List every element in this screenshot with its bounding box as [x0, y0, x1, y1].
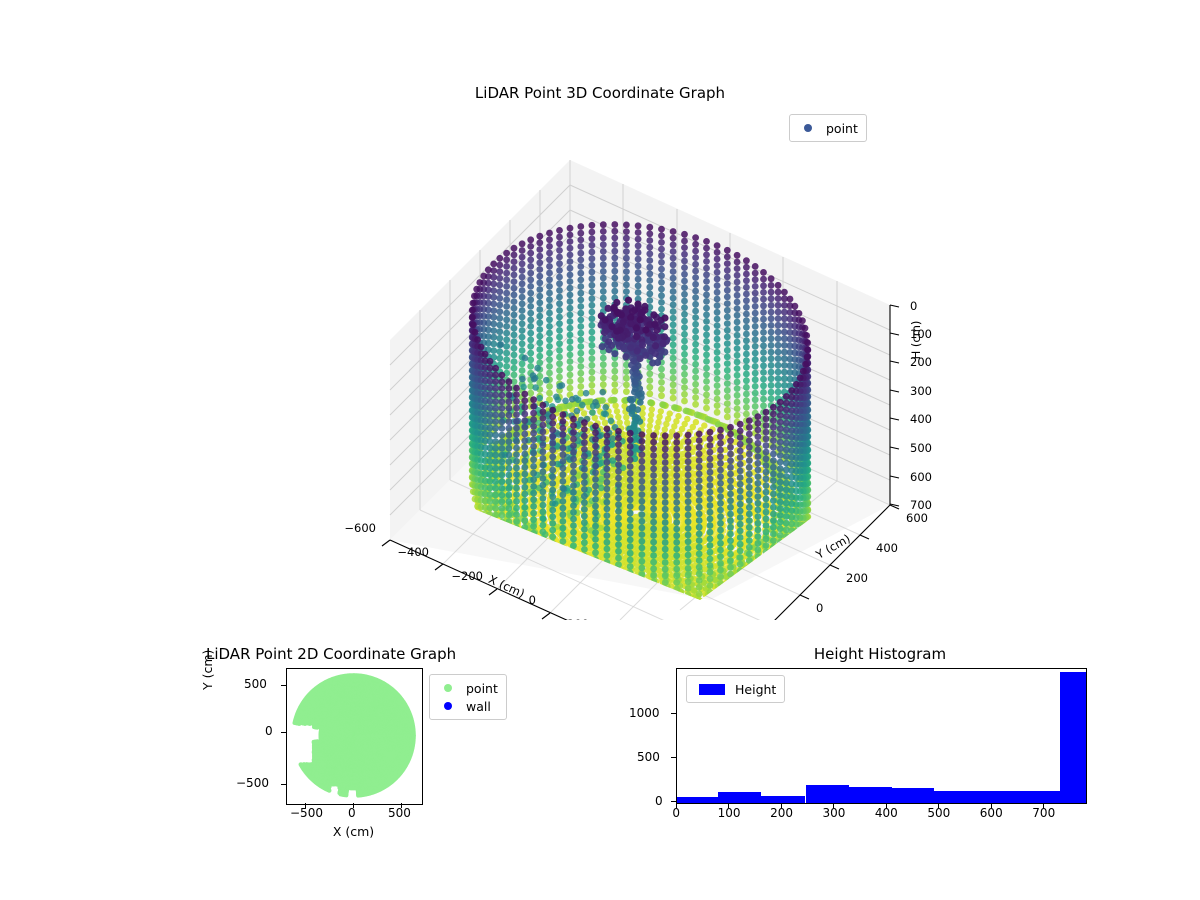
histogram-xtick-label: 300: [823, 806, 846, 820]
point-marker-icon: [804, 124, 812, 132]
point-marker-icon: [444, 684, 452, 692]
plot2d-title: LiDAR Point 2D Coordinate Graph: [206, 645, 456, 663]
histogram-legend[interactable]: Height: [686, 675, 785, 703]
legend-item-height[interactable]: Height: [695, 680, 776, 698]
plot2d-xtickmark-500: [401, 803, 402, 808]
legend-label: wall: [466, 699, 491, 714]
plot2d-axes[interactable]: [286, 668, 423, 805]
plot2d-xtick-500: 500: [388, 806, 411, 820]
histogram-xtick-label: 0: [672, 806, 680, 820]
histogram-xtick-label: 500: [927, 806, 950, 820]
legend-label: point: [466, 681, 498, 696]
histogram-title: Height Histogram: [675, 645, 1085, 663]
plot2d-xtick-0: 0: [348, 806, 356, 820]
legend-label: point: [826, 121, 858, 136]
histogram-ytick-0: 0: [655, 794, 663, 808]
plot3d-legend[interactable]: point: [789, 114, 867, 142]
plot2d-svg: [287, 669, 420, 802]
histogram-bar[interactable]: [806, 785, 850, 803]
plot2d-xtick-neg500: −500: [290, 806, 323, 820]
legend-label: Height: [735, 682, 776, 697]
histogram-bar[interactable]: [892, 788, 934, 803]
histogram-ytickmark-1000: [671, 713, 676, 714]
plot2d-legend[interactable]: point wall: [429, 674, 507, 720]
histogram-bar[interactable]: [718, 792, 761, 803]
histogram-xtick-label: 200: [770, 806, 793, 820]
histogram-ytickmark-500: [671, 757, 676, 758]
plot2d-ytick-500: 500: [244, 677, 267, 691]
histogram-xtick-label: 100: [718, 806, 741, 820]
histogram-ytick-500: 500: [637, 750, 660, 764]
legend-item-wall[interactable]: wall: [438, 697, 498, 715]
plot2d-ytick-0: 0: [265, 724, 273, 738]
plot2d-xtickmark-neg500: [305, 803, 306, 808]
plot3d-title: LiDAR Point 3D Coordinate Graph: [0, 84, 1200, 102]
plot3d-zlabel: H (cm): [909, 321, 923, 360]
plot2d-ytick-neg500: −500: [236, 776, 269, 790]
legend-item-point[interactable]: point: [438, 679, 498, 697]
figure-canvas: LiDAR Point 3D Coordinate Graph: [0, 0, 1200, 900]
histogram-ytickmark-0: [671, 801, 676, 802]
height-patch-icon: [699, 684, 725, 695]
plot3d-axes[interactable]: −600 −400 −200 0 200 400 600: [330, 140, 950, 620]
wall-marker-icon: [444, 702, 452, 710]
legend-item-point[interactable]: point: [798, 119, 858, 137]
plot2d-ylabel: Y (cm): [200, 650, 215, 690]
plot2d-xlabel: X (cm): [286, 824, 421, 839]
histogram-bar[interactable]: [761, 796, 806, 803]
histogram-bar[interactable]: [1060, 672, 1086, 803]
plot2d-ytickmark-0: [281, 732, 286, 733]
histogram-xtick-label: 400: [875, 806, 898, 820]
plot2d-point-cloud: [293, 673, 416, 797]
plot2d-xtickmark-0: [353, 803, 354, 808]
histogram-bar[interactable]: [934, 791, 1060, 803]
plot3d-svg: −600 −400 −200 0 200 400 600: [330, 140, 950, 620]
histogram-bar[interactable]: [849, 787, 892, 803]
plot2d-ytickmark-neg500: [281, 784, 286, 785]
histogram-bar[interactable]: [677, 797, 718, 803]
plot2d-ytickmark-500: [281, 685, 286, 686]
histogram-ytick-1000: 1000: [629, 706, 660, 720]
plot3d-xlabel: X (cm): [486, 572, 526, 601]
histogram-xtick-label: 700: [1032, 806, 1055, 820]
histogram-xtick-label: 600: [980, 806, 1003, 820]
